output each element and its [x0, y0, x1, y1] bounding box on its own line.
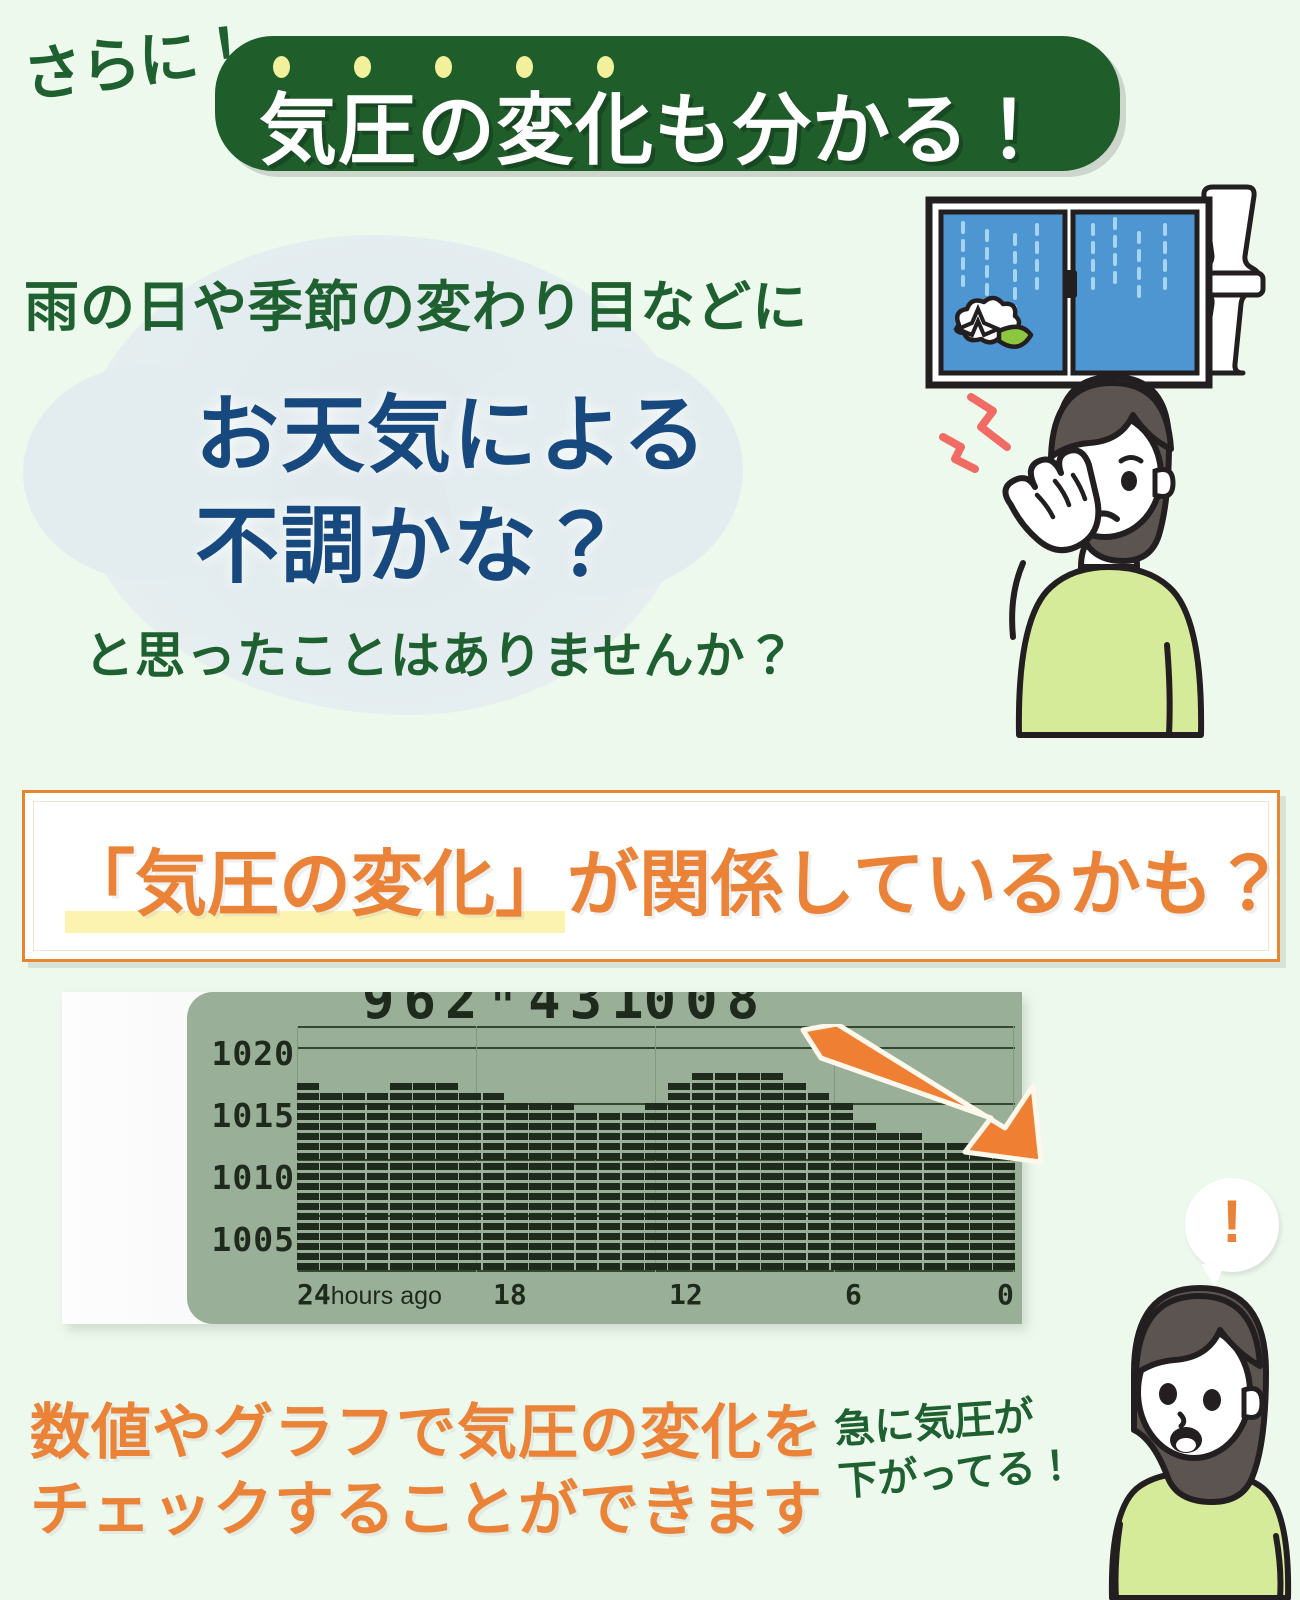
bar-segment — [576, 1133, 598, 1140]
bar-segment — [529, 1233, 551, 1240]
bar-segment — [436, 1123, 458, 1130]
bar-segment — [715, 1123, 737, 1130]
bar-segment — [436, 1203, 458, 1210]
bar-segment — [576, 1243, 598, 1250]
chart-bar — [576, 1110, 598, 1272]
bar-segment — [970, 1193, 992, 1200]
chart-bar — [761, 1076, 783, 1272]
bar-segment — [413, 1173, 435, 1180]
bar-segment — [297, 1243, 319, 1250]
bar-segment — [854, 1243, 876, 1250]
bar-segment — [483, 1183, 505, 1190]
infographic-page: さらに！ 気圧の変化も分かる！ 雨の日や季節の変わり目などに お天気による 不調… — [0, 0, 1300, 1600]
bar-segment — [367, 1093, 389, 1100]
bar-segment — [738, 1073, 760, 1080]
bar-segment — [668, 1173, 690, 1180]
bar-segment — [599, 1213, 621, 1220]
bar-segment — [761, 1213, 783, 1220]
bar-segment — [459, 1183, 481, 1190]
bar-segment — [413, 1143, 435, 1150]
bar-segment — [320, 1263, 342, 1270]
bar-segment — [436, 1093, 458, 1100]
x-tick-24-unit: hours ago — [331, 1282, 442, 1310]
bar-segment — [459, 1143, 481, 1150]
bar-segment — [367, 1243, 389, 1250]
bar-segment — [343, 1093, 365, 1100]
bar-segment — [924, 1183, 946, 1190]
bar-segment — [761, 1243, 783, 1250]
bar-segment — [483, 1173, 505, 1180]
bar-segment — [413, 1153, 435, 1160]
bar-segment — [367, 1233, 389, 1240]
bar-segment — [483, 1163, 505, 1170]
bar-segment — [831, 1193, 853, 1200]
bar-segment — [483, 1263, 505, 1270]
bar-segment — [390, 1143, 412, 1150]
bar-segment — [622, 1193, 644, 1200]
bar-segment — [668, 1223, 690, 1230]
bar-segment — [436, 1213, 458, 1220]
bar-segment — [784, 1243, 806, 1250]
bar-segment — [459, 1253, 481, 1260]
bar-segment — [900, 1183, 922, 1190]
lcd-top-digits: 9 6 2 ʰ 4 3 10 0 8 — [362, 992, 759, 1016]
bar-segment — [784, 1173, 806, 1180]
bar-segment — [343, 1203, 365, 1210]
bar-segment — [506, 1153, 528, 1160]
bar-segment — [367, 1203, 389, 1210]
chart-bar — [506, 1099, 528, 1272]
lcd-digit: 8 — [727, 992, 760, 1016]
bar-segment — [808, 1243, 830, 1250]
bar-segment — [297, 1213, 319, 1220]
bar-segment — [367, 1113, 389, 1120]
bar-segment — [529, 1243, 551, 1250]
bar-segment — [529, 1223, 551, 1230]
bar-segment — [692, 1183, 714, 1190]
bar-segment — [552, 1103, 574, 1110]
bar-segment — [761, 1103, 783, 1110]
bar-segment — [993, 1243, 1015, 1250]
bar-segment — [413, 1243, 435, 1250]
y-axis-labels: 1020 1015 1010 1005 — [199, 1028, 295, 1278]
bar-segment — [343, 1133, 365, 1140]
bar-segment — [738, 1183, 760, 1190]
bar-segment — [668, 1113, 690, 1120]
bar-segment — [390, 1173, 412, 1180]
bar-segment — [552, 1183, 574, 1190]
bar-segment — [668, 1163, 690, 1170]
bar-segment — [668, 1123, 690, 1130]
bar-segment — [483, 1243, 505, 1250]
bar-segment — [738, 1083, 760, 1090]
bar-segment — [529, 1113, 551, 1120]
bar-segment — [761, 1263, 783, 1270]
bar-segment — [436, 1143, 458, 1150]
bar-segment — [343, 1143, 365, 1150]
bar-segment — [645, 1213, 667, 1220]
bar-segment — [367, 1133, 389, 1140]
bar-segment — [738, 1223, 760, 1230]
question-headline-line1: お天気による — [195, 380, 708, 491]
lcd-digit: 3 — [570, 992, 603, 1016]
bar-segment — [529, 1203, 551, 1210]
bar-segment — [715, 1173, 737, 1180]
bar-segment — [483, 1153, 505, 1160]
bar-segment — [808, 1173, 830, 1180]
bar-segment — [413, 1093, 435, 1100]
bar-segment — [947, 1243, 969, 1250]
bar-segment — [668, 1093, 690, 1100]
bar-segment — [529, 1263, 551, 1270]
bar-segment — [784, 1223, 806, 1230]
bar-segment — [599, 1163, 621, 1170]
bar-segment — [343, 1103, 365, 1110]
chart-bar — [390, 1082, 412, 1272]
bar-segment — [692, 1233, 714, 1240]
bar-segment — [320, 1203, 342, 1210]
bar-segment — [506, 1233, 528, 1240]
y-tick-1020: 1020 — [212, 1034, 295, 1073]
question-tail-text: と思ったことはありませんか？ — [84, 616, 797, 688]
chart-bar — [436, 1082, 458, 1272]
callout-box: 「気圧の変化」が関係しているかも？ — [22, 790, 1280, 962]
bar-segment — [483, 1143, 505, 1150]
bar-segment — [436, 1133, 458, 1140]
bar-segment — [367, 1193, 389, 1200]
bar-segment — [413, 1083, 435, 1090]
bar-segment — [715, 1203, 737, 1210]
chart-bar — [459, 1093, 481, 1272]
bar-segment — [738, 1203, 760, 1210]
bar-segment — [297, 1133, 319, 1140]
bar-segment — [320, 1103, 342, 1110]
bar-segment — [367, 1173, 389, 1180]
bar-segment — [668, 1233, 690, 1240]
bar-segment — [692, 1073, 714, 1080]
bar-segment — [854, 1233, 876, 1240]
bar-segment — [297, 1173, 319, 1180]
bar-segment — [645, 1203, 667, 1210]
bar-segment — [761, 1113, 783, 1120]
bar-segment — [715, 1213, 737, 1220]
bar-segment — [645, 1173, 667, 1180]
bar-segment — [552, 1113, 574, 1120]
question-headline: お天気による 不調かな？ — [195, 380, 708, 602]
bar-segment — [993, 1223, 1015, 1230]
bar-segment — [668, 1153, 690, 1160]
bar-segment — [459, 1233, 481, 1240]
bar-segment — [808, 1193, 830, 1200]
bar-segment — [459, 1123, 481, 1130]
bar-segment — [367, 1153, 389, 1160]
chart-bar — [413, 1082, 435, 1272]
bar-segment — [761, 1183, 783, 1190]
bar-segment — [320, 1153, 342, 1160]
chart-bar — [483, 1093, 505, 1272]
bar-segment — [552, 1213, 574, 1220]
bar-segment — [506, 1193, 528, 1200]
bar-segment — [692, 1103, 714, 1110]
chart-bar — [367, 1093, 389, 1272]
bar-segment — [529, 1153, 551, 1160]
bar-segment — [877, 1183, 899, 1190]
chart-bar — [599, 1110, 621, 1272]
bar-segment — [552, 1223, 574, 1230]
bar-segment — [738, 1213, 760, 1220]
bar-segment — [692, 1223, 714, 1230]
window-icon — [929, 200, 1209, 385]
bar-segment — [320, 1233, 342, 1240]
bar-segment — [622, 1173, 644, 1180]
bar-segment — [552, 1203, 574, 1210]
bar-segment — [506, 1133, 528, 1140]
bar-segment — [900, 1203, 922, 1210]
bar-segment — [808, 1183, 830, 1190]
bar-segment — [529, 1253, 551, 1260]
bar-segment — [924, 1173, 946, 1180]
bar-segment — [993, 1193, 1015, 1200]
bar-segment — [576, 1213, 598, 1220]
bar-segment — [483, 1233, 505, 1240]
bar-segment — [761, 1083, 783, 1090]
bar-segment — [947, 1203, 969, 1210]
chart-bar — [622, 1110, 644, 1272]
bar-segment — [924, 1243, 946, 1250]
illustration-rainy-window-woman — [915, 175, 1285, 745]
bar-segment — [993, 1183, 1015, 1190]
bar-segment — [784, 1193, 806, 1200]
bar-segment — [970, 1233, 992, 1240]
bar-segment — [506, 1123, 528, 1130]
bar-segment — [436, 1163, 458, 1170]
bar-segment — [715, 1253, 737, 1260]
bar-segment — [715, 1073, 737, 1080]
bar-segment — [343, 1163, 365, 1170]
bar-segment — [692, 1193, 714, 1200]
bar-segment — [622, 1223, 644, 1230]
bar-segment — [645, 1233, 667, 1240]
bar-segment — [552, 1123, 574, 1130]
woman-headache-figure — [1005, 377, 1201, 735]
bar-segment — [738, 1243, 760, 1250]
bar-segment — [529, 1183, 551, 1190]
lcd-digit: 4 — [528, 992, 561, 1016]
bar-segment — [692, 1143, 714, 1150]
bar-segment — [715, 1263, 737, 1270]
bar-segment — [900, 1193, 922, 1200]
bar-segment — [854, 1223, 876, 1230]
bar-segment — [784, 1263, 806, 1270]
bar-segment — [436, 1113, 458, 1120]
bar-segment — [854, 1193, 876, 1200]
bar-segment — [738, 1263, 760, 1270]
bar-segment — [668, 1253, 690, 1260]
bar-segment — [599, 1173, 621, 1180]
bar-segment — [320, 1123, 342, 1130]
bar-segment — [692, 1213, 714, 1220]
bar-segment — [506, 1103, 528, 1110]
lcd-digit: 10 — [611, 992, 676, 1016]
bar-segment — [576, 1193, 598, 1200]
bar-segment — [576, 1173, 598, 1180]
bar-segment — [506, 1253, 528, 1260]
bar-segment — [599, 1113, 621, 1120]
bar-segment — [343, 1123, 365, 1130]
bar-segment — [459, 1093, 481, 1100]
bar-segment — [320, 1143, 342, 1150]
chart-bar — [320, 1093, 342, 1272]
bar-segment — [320, 1113, 342, 1120]
bar-segment — [761, 1123, 783, 1130]
bar-segment — [622, 1143, 644, 1150]
bar-segment — [692, 1253, 714, 1260]
bar-segment — [343, 1253, 365, 1260]
bar-segment — [367, 1123, 389, 1130]
bar-segment — [738, 1153, 760, 1160]
bar-segment — [645, 1133, 667, 1140]
bar-segment — [320, 1093, 342, 1100]
bar-segment — [390, 1243, 412, 1250]
bar-segment — [436, 1233, 458, 1240]
bar-segment — [343, 1183, 365, 1190]
bar-segment — [413, 1193, 435, 1200]
bar-segment — [738, 1093, 760, 1100]
bar-segment — [390, 1103, 412, 1110]
bar-segment — [297, 1113, 319, 1120]
bar-segment — [552, 1133, 574, 1140]
pain-bolt-icon — [943, 397, 1007, 469]
bar-segment — [645, 1103, 667, 1110]
y-tick-1015: 1015 — [212, 1096, 295, 1135]
bar-segment — [413, 1123, 435, 1130]
bar-segment — [784, 1253, 806, 1260]
lcd-digit: 6 — [404, 992, 437, 1016]
bar-segment — [576, 1143, 598, 1150]
bar-segment — [761, 1193, 783, 1200]
bar-segment — [483, 1253, 505, 1260]
bar-segment — [529, 1123, 551, 1130]
bar-segment — [715, 1083, 737, 1090]
bar-segment — [413, 1233, 435, 1240]
bar-segment — [343, 1213, 365, 1220]
bar-segment — [483, 1113, 505, 1120]
bar-segment — [413, 1263, 435, 1270]
bar-segment — [947, 1183, 969, 1190]
bar-segment — [761, 1143, 783, 1150]
bar-segment — [808, 1223, 830, 1230]
y-tick-1005: 1005 — [212, 1220, 295, 1259]
bar-segment — [645, 1183, 667, 1190]
bar-segment — [506, 1113, 528, 1120]
bar-segment — [831, 1243, 853, 1250]
bar-segment — [552, 1253, 574, 1260]
bar-segment — [947, 1263, 969, 1270]
bar-segment — [692, 1173, 714, 1180]
footer-line1: 数値やグラフで気圧の変化を — [30, 1395, 823, 1472]
bar-segment — [947, 1253, 969, 1260]
down-trend-arrow-icon — [795, 1024, 1045, 1169]
bar-segment — [877, 1243, 899, 1250]
bar-segment — [692, 1083, 714, 1090]
bar-segment — [529, 1163, 551, 1170]
bar-segment — [390, 1263, 412, 1270]
bar-segment — [390, 1123, 412, 1130]
bar-segment — [599, 1203, 621, 1210]
bar-segment — [854, 1183, 876, 1190]
bar-segment — [715, 1183, 737, 1190]
bar-segment — [599, 1143, 621, 1150]
bar-segment — [970, 1253, 992, 1260]
bar-segment — [576, 1253, 598, 1260]
bar-segment — [692, 1163, 714, 1170]
bar-segment — [831, 1203, 853, 1210]
bar-segment — [576, 1123, 598, 1130]
bar-segment — [436, 1083, 458, 1090]
bar-segment — [738, 1163, 760, 1170]
bar-segment — [297, 1123, 319, 1130]
x-tick-18: 18 — [493, 1278, 527, 1311]
bar-segment — [413, 1253, 435, 1260]
bar-segment — [506, 1263, 528, 1270]
bar-segment — [343, 1243, 365, 1250]
bar-segment — [552, 1153, 574, 1160]
bar-segment — [970, 1183, 992, 1190]
bar-segment — [900, 1243, 922, 1250]
bar-segment — [715, 1103, 737, 1110]
bar-segment — [645, 1113, 667, 1120]
bar-segment — [529, 1133, 551, 1140]
bar-segment — [459, 1243, 481, 1250]
bar-segment — [738, 1123, 760, 1130]
bar-segment — [599, 1183, 621, 1190]
bar-segment — [692, 1093, 714, 1100]
bar-segment — [320, 1183, 342, 1190]
bar-segment — [668, 1103, 690, 1110]
bar-segment — [390, 1233, 412, 1240]
bar-segment — [413, 1103, 435, 1110]
bar-segment — [576, 1163, 598, 1170]
bar-segment — [599, 1263, 621, 1270]
bar-segment — [552, 1233, 574, 1240]
bar-segment — [297, 1253, 319, 1260]
bar-segment — [436, 1153, 458, 1160]
bar-segment — [576, 1183, 598, 1190]
bar-segment — [877, 1223, 899, 1230]
bar-segment — [483, 1213, 505, 1220]
bar-segment — [436, 1243, 458, 1250]
question-lead-text: 雨の日や季節の変わり目などに — [24, 262, 808, 342]
bar-segment — [367, 1213, 389, 1220]
bar-segment — [297, 1143, 319, 1150]
bar-segment — [622, 1133, 644, 1140]
bar-segment — [297, 1183, 319, 1190]
bar-segment — [808, 1253, 830, 1260]
bar-segment — [622, 1203, 644, 1210]
bar-segment — [622, 1123, 644, 1130]
bar-segment — [715, 1133, 737, 1140]
bar-segment — [552, 1163, 574, 1170]
bar-segment — [692, 1133, 714, 1140]
bar-segment — [924, 1213, 946, 1220]
bar-segment — [576, 1153, 598, 1160]
bar-segment — [320, 1173, 342, 1180]
bar-segment — [831, 1183, 853, 1190]
chart-bar — [297, 1082, 319, 1272]
bar-segment — [692, 1243, 714, 1250]
bar-segment — [297, 1163, 319, 1170]
bar-segment — [529, 1173, 551, 1180]
